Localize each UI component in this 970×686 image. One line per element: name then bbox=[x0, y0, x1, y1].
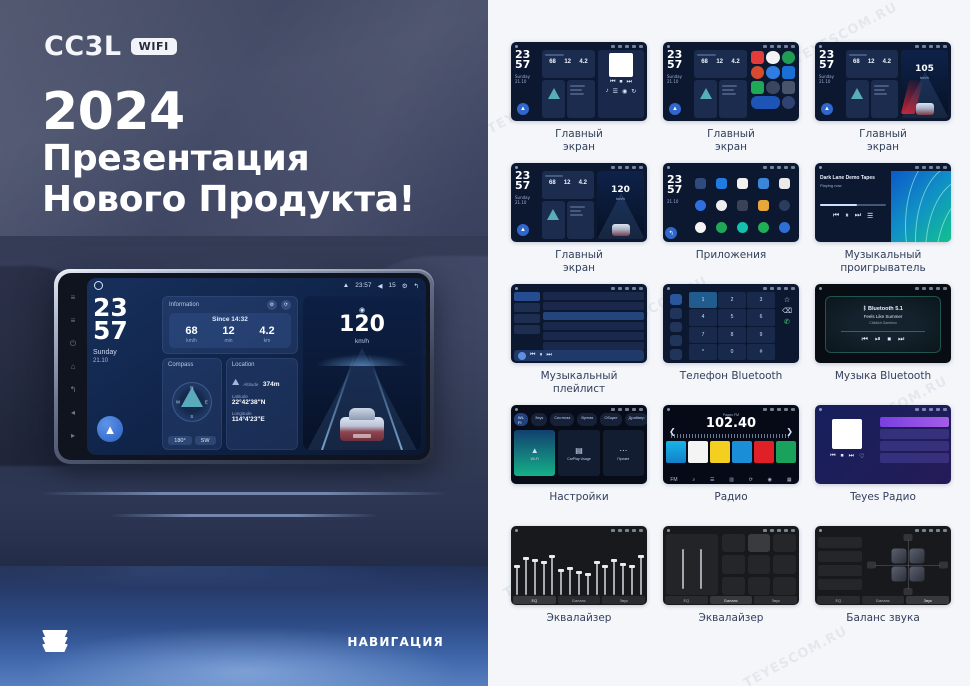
apps-icon: ▦ bbox=[787, 477, 792, 483]
car-illustration bbox=[612, 224, 630, 236]
gallery-item[interactable]: EQ Баланс Звук Эквалайзер bbox=[658, 526, 804, 646]
key-home-icon[interactable]: ⌂ bbox=[69, 362, 78, 371]
gallery-item[interactable]: ⏮⏹⏭♡ Teyes Радио bbox=[810, 405, 956, 525]
list-icon: ☰ bbox=[710, 477, 714, 483]
balance-up-button[interactable] bbox=[903, 534, 912, 541]
equalizer-preset-layout bbox=[666, 534, 796, 595]
bass-treble-sliders[interactable] bbox=[666, 534, 718, 595]
app-item bbox=[691, 195, 711, 216]
thumbnail-bluetooth-music[interactable]: ᛒ Bluetooth 5.1 Feels Like Summer Childi… bbox=[815, 284, 951, 363]
teyes-controls[interactable]: ⏮⏹⏭♡ bbox=[817, 453, 878, 460]
headline: 2024 Презентация Нового Продукта! bbox=[42, 86, 462, 220]
balance-layout bbox=[818, 534, 948, 595]
compass-dial-wrap: N S E W bbox=[168, 368, 216, 436]
speed-value: 120 bbox=[303, 314, 421, 336]
presentation-slide: CC3L WIFI 2024 Презентация Нового Продук… bbox=[0, 0, 970, 686]
status-bar-right: ▲ 23:57 ◀ 15 ⚙ ↰ bbox=[343, 282, 419, 290]
thumb-speed-unit: km/h bbox=[597, 196, 644, 201]
settings-card: ⋯Прочее bbox=[603, 430, 644, 476]
settings-tab: Драйвер bbox=[625, 413, 647, 426]
thumbnail-settings[interactable]: Wi-Fi Звук Система Время Общие Драйвер ▲… bbox=[511, 405, 647, 484]
app-item bbox=[774, 195, 794, 216]
lower-widget-row: Compass N S E W bbox=[162, 358, 298, 450]
dial-key: 1 bbox=[689, 292, 717, 308]
compass-dial: N S E W bbox=[172, 382, 212, 422]
pause-icon: ⏸ bbox=[845, 212, 849, 220]
head-unit-screen[interactable]: ▲ 23:57 ◀ 15 ⚙ ↰ 23 57 bbox=[87, 278, 426, 455]
gallery-caption: Баланс звука bbox=[846, 612, 920, 625]
information-actions: ⚙ ⟳ bbox=[267, 300, 291, 310]
navigation-arrow-icon: ▲ bbox=[517, 224, 529, 236]
settings-layout: Wi-Fi Звук Система Время Общие Драйвер ▲… bbox=[514, 413, 644, 481]
altitude-row: ⛰ Altitude 374m bbox=[232, 373, 292, 391]
volume-icon[interactable]: ◀ bbox=[377, 282, 382, 290]
gallery-caption: Настройки bbox=[549, 491, 608, 504]
dial-key: 4 bbox=[689, 309, 717, 325]
driving-widget[interactable]: ◉ 120 km/h bbox=[303, 296, 421, 450]
compass-e: E bbox=[205, 400, 208, 405]
stat-value: 12 bbox=[222, 326, 234, 337]
dialer-sidebar[interactable] bbox=[666, 292, 686, 360]
equalizer-tabs[interactable]: EQ Баланс Звук bbox=[665, 596, 797, 604]
compass-values: 180° SW bbox=[168, 436, 216, 445]
gallery-item[interactable]: EQ Баланс Звук Эквалайзер bbox=[506, 526, 652, 646]
gallery-caption: Главныйэкран bbox=[707, 128, 755, 154]
album-art bbox=[609, 53, 633, 77]
wifi-icon: ▲ bbox=[343, 282, 349, 289]
compass-s: S bbox=[190, 414, 193, 419]
gallery-item[interactable]: Wi-Fi Звук Система Время Общие Драйвер ▲… bbox=[506, 405, 652, 525]
dashboard-scene: ≡ ≡ ⏻ ⌂ ↰ ◂ ▸ ▲ 23:57 bbox=[0, 236, 488, 566]
dial-key: 7 bbox=[689, 327, 717, 343]
play-pause-icon: ⏯ bbox=[875, 336, 881, 344]
search-icon: ⌕ bbox=[692, 477, 695, 483]
dialer-actions[interactable]: ☆⌫✆ bbox=[778, 292, 796, 360]
balance-left-button[interactable] bbox=[867, 561, 876, 568]
dial-key: 9 bbox=[747, 327, 775, 343]
gallery-item[interactable]: 2357Sunday21.10 ▲ 68124.2 bbox=[658, 42, 804, 162]
gallery-caption: Музыка Bluetooth bbox=[835, 370, 931, 383]
stat-value: 68 bbox=[185, 326, 197, 337]
bluetooth-icon: ᛒ bbox=[863, 306, 866, 312]
bt-artist: Childish Gambino bbox=[869, 321, 897, 325]
layers-icon bbox=[42, 630, 68, 652]
thumb-speed-unit: km/h bbox=[901, 75, 948, 80]
progress-bar[interactable] bbox=[820, 204, 886, 206]
thumbnail-equalizer-presets[interactable]: EQ Баланс Звук bbox=[663, 526, 799, 605]
next-icon: ⏭ bbox=[855, 212, 861, 220]
carplay-icon: ▤ bbox=[575, 446, 583, 455]
bluetooth-version: ᛒ Bluetooth 5.1 bbox=[863, 306, 903, 312]
status-time: 23:57 bbox=[355, 282, 371, 289]
gallery-caption: Главныйэкран bbox=[555, 128, 603, 154]
settings-card: ▲Wi-Fi bbox=[514, 430, 555, 476]
head-unit-bezel: ≡ ≡ ⏻ ⌂ ↰ ◂ ▸ ▲ 23:57 bbox=[54, 269, 434, 464]
thumb-clock: 235721.10 bbox=[667, 175, 691, 204]
gallery-item[interactable]: 1 2 3 4 5 6 7 8 9 * 0 # bbox=[658, 284, 804, 404]
gallery-item[interactable]: Радио FM 102.40 ❮❯ bbox=[658, 405, 804, 525]
thumbnail-teyes-radio[interactable]: ⏮⏹⏭♡ bbox=[815, 405, 951, 484]
thumbnail-bluetooth-phone[interactable]: 1 2 3 4 5 6 7 8 9 * 0 # bbox=[663, 284, 799, 363]
thumbnail-home-drive-120[interactable]: 2357Sunday21.10 ▲ 68124.2 120 km/h bbox=[511, 163, 647, 242]
brand-model-text: CC3L bbox=[44, 33, 122, 60]
compass-direction: SW bbox=[195, 436, 216, 445]
clock-weekday: Sunday bbox=[93, 349, 157, 358]
app-item bbox=[733, 195, 753, 216]
radio-tuning[interactable]: ❮❯ bbox=[663, 427, 799, 436]
information-stats: 68 km/h 12 min bbox=[173, 326, 287, 344]
gallery-item[interactable]: 2357Sunday21.10 ▲ 68124.2 120 km/h bbox=[506, 163, 652, 283]
key-back-icon[interactable]: ↰ bbox=[69, 385, 78, 394]
star-icon: ☆ bbox=[784, 296, 790, 304]
gear-icon[interactable]: ⚙ bbox=[267, 300, 277, 310]
prev-icon: ⏮ bbox=[862, 336, 868, 344]
eq-icon: ▥ bbox=[729, 477, 734, 483]
settings-tab: Система bbox=[550, 413, 574, 426]
gallery-caption: Приложения bbox=[696, 249, 766, 262]
app-item bbox=[733, 217, 753, 238]
navigation-arrow-icon: ▲ bbox=[669, 103, 681, 115]
refresh-icon[interactable]: ⟳ bbox=[281, 300, 291, 310]
longitude-row: Longitude 114°4'23"E bbox=[232, 411, 292, 425]
shortcut-grid bbox=[750, 50, 796, 118]
key-power-icon[interactable]: ⏻ bbox=[69, 339, 78, 348]
thumbnail-home-drive-105[interactable]: 2357Sunday21.10 ▲ 68124.2 105 km/h bbox=[815, 42, 951, 121]
heart-icon: ♡ bbox=[859, 453, 864, 460]
app-item bbox=[691, 173, 711, 194]
player-info: Dark Lane Demo Tapes Playing now ⏮⏸⏭☰ bbox=[815, 171, 891, 242]
backspace-icon: ⌫ bbox=[782, 307, 792, 315]
latitude-row: Latitude 22°42'38"N bbox=[232, 394, 292, 408]
settings-tab: Общие bbox=[600, 413, 621, 426]
altitude-value: 374m bbox=[263, 381, 280, 388]
app-item bbox=[774, 173, 794, 194]
thumbnail-sound-balance[interactable]: EQ Баланс Звук bbox=[815, 526, 951, 605]
thumbnail-equalizer[interactable]: EQ Баланс Звук bbox=[511, 526, 647, 605]
more-icon: ⋯ bbox=[619, 446, 627, 455]
screenshot-gallery-panel: TEYESCOM.RU TEYESCOM.RU TEYESCOM.RU TEYE… bbox=[488, 0, 970, 686]
home-icon[interactable] bbox=[94, 281, 103, 290]
player-track: Dark Lane Demo Tapes bbox=[820, 175, 886, 181]
album-art bbox=[832, 419, 862, 449]
dial-key: 8 bbox=[718, 327, 746, 343]
call-icon: ✆ bbox=[784, 318, 790, 326]
key-mode-icon[interactable]: ≡ bbox=[69, 316, 78, 325]
navigation-arrow-icon[interactable]: ▲ bbox=[97, 416, 123, 442]
compass-n: N bbox=[190, 385, 193, 390]
compass-heading: 180° bbox=[168, 436, 191, 445]
settings-cards[interactable]: ▲Wi-Fi ▤CarPlay Usage ⋯Прочее bbox=[514, 430, 644, 476]
bt-controls[interactable]: ⏮⏯⏹⏭ bbox=[862, 336, 905, 344]
dial-key: * bbox=[689, 344, 717, 360]
car-illustration bbox=[916, 103, 934, 115]
thumbnail-home-apps[interactable]: 2357Sunday21.10 ▲ 68124.2 bbox=[663, 42, 799, 121]
station-list[interactable] bbox=[880, 413, 949, 482]
drive-widget: 105 km/h bbox=[901, 50, 948, 118]
app-grid bbox=[689, 171, 796, 240]
gallery-caption: Teyes Радио bbox=[850, 491, 916, 504]
mountain-icon: ⛰ bbox=[232, 377, 240, 388]
status-bar: ▲ 23:57 ◀ 15 ⚙ ↰ bbox=[87, 278, 426, 293]
navigation-label: НАВИГАЦИЯ bbox=[347, 635, 444, 649]
longitude-value: 114°4'23"E bbox=[232, 416, 292, 424]
thumb-speed: 120 bbox=[597, 185, 644, 195]
gallery-caption: Эквалайзер bbox=[547, 612, 612, 625]
vent-line bbox=[110, 514, 378, 517]
balance-pad[interactable] bbox=[867, 534, 948, 595]
back-icon[interactable]: ↰ bbox=[414, 282, 419, 290]
next-icon: ⏭ bbox=[849, 453, 854, 460]
dial-key: 6 bbox=[747, 309, 775, 325]
speed-unit: km/h bbox=[303, 338, 421, 345]
app-item bbox=[753, 217, 773, 238]
headline-line2: Нового Продукта! bbox=[42, 180, 462, 221]
settings-tab: Звук bbox=[531, 413, 547, 426]
dial-key: # bbox=[747, 344, 775, 360]
settings-tab: Время bbox=[577, 413, 597, 426]
balance-down-button[interactable] bbox=[903, 588, 912, 595]
bluetooth-card: ᛒ Bluetooth 5.1 Feels Like Summer Childi… bbox=[825, 296, 941, 353]
app-item bbox=[712, 173, 732, 194]
screen-body: 23 57 Sunday 21.10 ▲ Information bbox=[87, 293, 426, 455]
player-controls[interactable]: ⏮⏸⏭☰ bbox=[820, 212, 886, 220]
app-item bbox=[733, 173, 753, 194]
gallery-grid: 2357Sunday21.10 ▲ 68124.2 ⏮⏹⏭ ♪☰◉↻ bbox=[506, 42, 956, 646]
scan-icon: ⟳ bbox=[749, 477, 753, 483]
settings-tab: Wi-Fi bbox=[514, 413, 528, 426]
head-unit-body: ≡ ≡ ⏻ ⌂ ↰ ◂ ▸ ▲ 23:57 bbox=[58, 273, 430, 460]
next-icon: ⏭ bbox=[898, 336, 904, 344]
stat-item: 4.2 km bbox=[259, 326, 274, 344]
gallery-caption: Эквалайзер bbox=[699, 612, 764, 625]
gallery-caption: Музыкальныйпроигрыватель bbox=[840, 249, 925, 275]
band-icon: FM bbox=[670, 477, 677, 483]
gallery-caption: Музыкальныйплейлист bbox=[541, 370, 618, 396]
information-box: Since 14:32 68 km/h 12 bbox=[169, 313, 291, 348]
gallery-item[interactable]: EQ Баланс Звук Баланс звука bbox=[810, 526, 956, 646]
stat-unit: min bbox=[222, 338, 234, 344]
brand-logo: CC3L WIFI bbox=[44, 33, 177, 60]
prev-station-icon: ❮ bbox=[669, 427, 676, 436]
next-station-icon: ❯ bbox=[786, 427, 793, 436]
location-card[interactable]: Location ⛰ Altitude 374m bbox=[226, 358, 298, 450]
car-illustration bbox=[340, 407, 384, 441]
information-since: Since 14:32 bbox=[173, 316, 287, 323]
information-title: Information bbox=[169, 302, 199, 308]
hero-panel: CC3L WIFI 2024 Презентация Нового Продук… bbox=[0, 0, 488, 686]
thumb-speed: 105 bbox=[901, 64, 948, 74]
information-header: Information ⚙ ⟳ bbox=[169, 300, 291, 310]
prev-icon: ⏮ bbox=[833, 212, 839, 220]
horizon-glow bbox=[303, 350, 421, 366]
gallery-item[interactable]: 235721.10 ↰ bbox=[658, 163, 804, 283]
widget-column: Information ⚙ ⟳ Since 14:32 bbox=[162, 296, 298, 450]
stop-icon: ⏹ bbox=[841, 453, 844, 460]
app-item bbox=[753, 195, 773, 216]
dial-key: 0 bbox=[718, 344, 746, 360]
app-item bbox=[691, 217, 711, 238]
gallery-item[interactable]: ᛒ Bluetooth 5.1 Feels Like Summer Childi… bbox=[810, 284, 956, 404]
gallery-item[interactable]: ⏮⏸⏭ Музыкальныйплейлист bbox=[506, 284, 652, 404]
navigation-arrow-icon: ▲ bbox=[517, 103, 529, 115]
information-card[interactable]: Information ⚙ ⟳ Since 14:32 bbox=[162, 296, 298, 354]
bt-song: Feels Like Summer bbox=[864, 314, 903, 319]
equalizer-tabs[interactable]: EQ Баланс Звук bbox=[513, 596, 645, 604]
prev-icon: ⏮ bbox=[830, 453, 835, 460]
stat-value: 4.2 bbox=[259, 326, 274, 337]
key-menu-icon[interactable]: ≡ bbox=[69, 293, 78, 302]
dial-key: 3 bbox=[747, 292, 775, 308]
navigation-arrow-icon: ▲ bbox=[821, 103, 833, 115]
app-item bbox=[774, 217, 794, 238]
dialer-layout: 1 2 3 4 5 6 7 8 9 * 0 # bbox=[666, 292, 796, 360]
wifi-badge: WIFI bbox=[131, 38, 177, 55]
dashboard-vent bbox=[0, 470, 488, 566]
car-plate bbox=[353, 434, 371, 438]
seat-map bbox=[891, 548, 924, 581]
compass-card[interactable]: Compass N S E W bbox=[162, 358, 222, 450]
music-widget: ⏮⏹⏭ ♪☰◉↻ bbox=[598, 50, 644, 118]
thumbnail-playlist[interactable]: ⏮⏸⏭ bbox=[511, 284, 647, 363]
dial-key: 2 bbox=[718, 292, 746, 308]
gallery-item[interactable]: Dark Lane Demo Tapes Playing now ⏮⏸⏭☰ bbox=[810, 163, 956, 283]
stat-unit: km bbox=[259, 338, 274, 344]
balance-right-button[interactable] bbox=[939, 561, 948, 568]
drive-widget: 120 km/h bbox=[597, 171, 644, 239]
headline-line1: Презентация bbox=[42, 139, 462, 180]
gallery-item[interactable]: 2357Sunday21.10 ▲ 68124.2 105 km/h bbox=[810, 42, 956, 162]
equalizer-sliders[interactable] bbox=[514, 534, 644, 595]
clock-date: 21.10 bbox=[93, 358, 157, 366]
stop-icon: ⏹ bbox=[888, 336, 892, 344]
dialpad[interactable]: 1 2 3 4 5 6 7 8 9 * 0 # bbox=[689, 292, 775, 360]
compass-cone-icon bbox=[181, 387, 203, 407]
app-item bbox=[712, 217, 732, 238]
teyes-radio-layout: ⏮⏹⏭♡ bbox=[817, 413, 949, 482]
key-volume-down-icon[interactable]: ◂ bbox=[69, 408, 78, 417]
settings-tabs[interactable]: Wi-Fi Звук Система Время Общие Драйвер bbox=[514, 413, 644, 426]
hero-footer bbox=[0, 566, 488, 686]
gallery-item[interactable]: 2357Sunday21.10 ▲ 68124.2 ⏮⏹⏭ ♪☰◉↻ bbox=[506, 42, 652, 162]
radio-presets[interactable] bbox=[663, 438, 799, 463]
compass-w: W bbox=[176, 400, 180, 405]
mini-player-bar[interactable]: ⏮⏸⏭ bbox=[514, 350, 644, 361]
clock-minutes: 57 bbox=[93, 319, 157, 342]
list-icon: ☰ bbox=[867, 212, 873, 220]
dial-key: 5 bbox=[718, 309, 746, 325]
back-icon: ↰ bbox=[665, 227, 677, 239]
gallery-caption: Главныйэкран bbox=[555, 249, 603, 275]
stat-unit: km/h bbox=[185, 338, 197, 344]
app-item bbox=[753, 173, 773, 194]
status-volume: 15 bbox=[388, 282, 395, 289]
radio-layout: Радио FM 102.40 ❮❯ bbox=[663, 413, 799, 484]
settings-icon[interactable]: ⚙ bbox=[402, 282, 408, 290]
headline-year: 2024 bbox=[42, 86, 462, 139]
latitude-value: 22°42'38"N bbox=[232, 399, 292, 407]
stat-item: 68 km/h bbox=[185, 326, 197, 344]
stat-item: 12 min bbox=[222, 326, 234, 344]
hardware-key-strip[interactable]: ≡ ≡ ⏻ ⌂ ↰ ◂ ▸ bbox=[63, 278, 83, 455]
loc-icon: ◉ bbox=[768, 477, 772, 483]
balance-tabs[interactable]: EQ Баланс Звук bbox=[817, 596, 949, 604]
visualizer bbox=[891, 171, 951, 242]
thumbnail-apps[interactable]: 235721.10 ↰ bbox=[663, 163, 799, 242]
location-title: Location bbox=[232, 362, 292, 368]
radio-toolbar[interactable]: FM⌕☰ ▥⟳◉▦ bbox=[663, 477, 799, 483]
player-sub: Playing now bbox=[820, 183, 886, 188]
thumbnail-home-music[interactable]: 2357Sunday21.10 ▲ 68124.2 ⏮⏹⏭ ♪☰◉↻ bbox=[511, 42, 647, 121]
thumbnail-music-player[interactable]: Dark Lane Demo Tapes Playing now ⏮⏸⏭☰ bbox=[815, 163, 951, 242]
thumbnail-radio[interactable]: Радио FM 102.40 ❮❯ bbox=[663, 405, 799, 484]
gallery-caption: Радио bbox=[714, 491, 747, 504]
vent-line bbox=[40, 492, 448, 495]
gallery-caption: Телефон Bluetooth bbox=[680, 370, 783, 383]
car-roof bbox=[349, 408, 375, 420]
altitude-label: Altitude bbox=[243, 382, 258, 387]
app-item bbox=[712, 195, 732, 216]
preset-grid[interactable] bbox=[722, 534, 796, 595]
wifi-icon: ▲ bbox=[531, 446, 539, 455]
key-volume-up-icon[interactable]: ▸ bbox=[69, 431, 78, 440]
gallery-caption: Главныйэкран bbox=[859, 128, 907, 154]
clock-widget[interactable]: 23 57 Sunday 21.10 ▲ bbox=[93, 296, 157, 450]
settings-card: ▤CarPlay Usage bbox=[558, 430, 599, 476]
balance-presets[interactable] bbox=[818, 534, 862, 595]
